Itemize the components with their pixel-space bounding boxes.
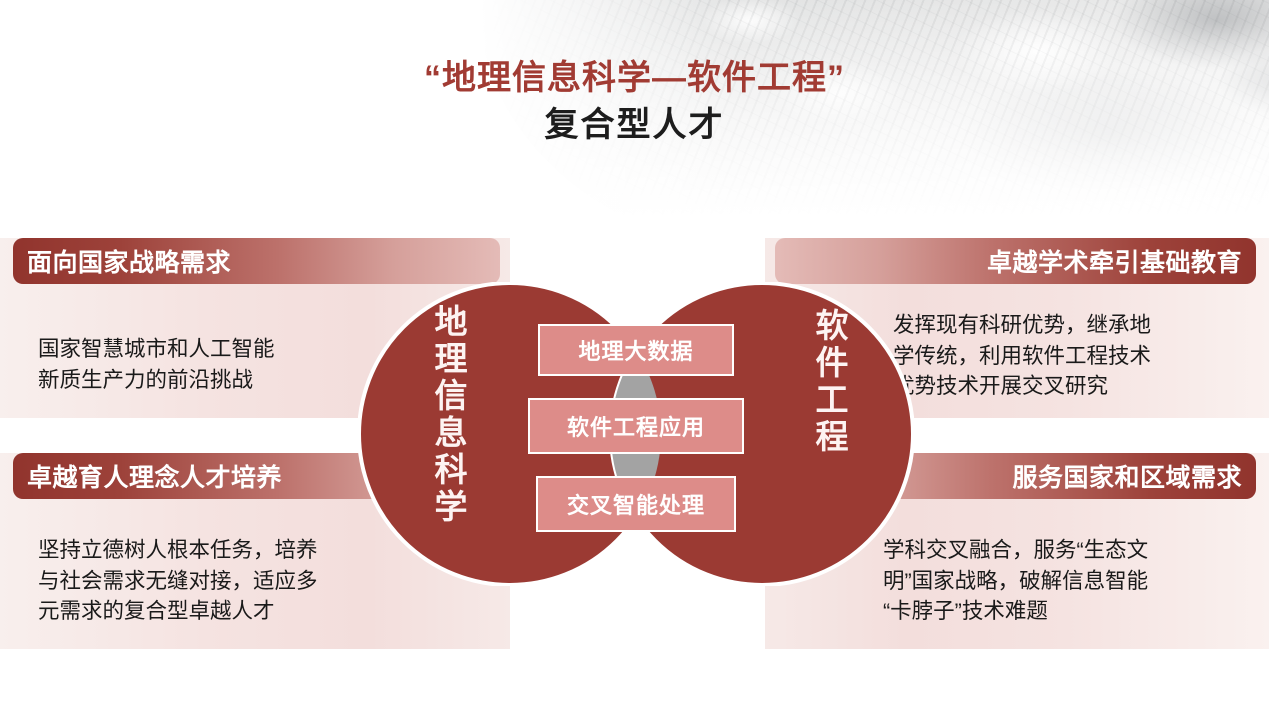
panel-bottom-right-body: 学科交叉融合，服务“生态文 明”国家战略，破解信息智能 “卡脖子”技术难题 <box>883 535 1247 627</box>
venn-left-label: 地理信息科学 <box>432 304 465 526</box>
venn-center-box-0[interactable]: 地理大数据 <box>538 324 734 376</box>
title-block: “地理信息科学—软件工程” 复合型人才 <box>0 58 1269 147</box>
venn-center-box-2[interactable]: 交叉智能处理 <box>536 476 736 532</box>
panel-top-left-heading: 面向国家战略需求 <box>13 238 500 284</box>
venn-center-box-1[interactable]: 软件工程应用 <box>528 398 744 454</box>
venn-right-label: 软件工程 <box>813 308 846 456</box>
panel-top-right-body: 发挥现有科研优势，继承地 学传统，利用软件工程技术 优势技术开展交叉研究 <box>893 310 1243 402</box>
slide-title-sub: 复合型人才 <box>0 104 1269 147</box>
slide-title-main: “地理信息科学—软件工程” <box>0 58 1269 98</box>
panel-top-right-heading: 卓越学术牵引基础教育 <box>775 238 1256 284</box>
venn-diagram: 地理信息科学 软件工程 地理大数据 软件工程应用 交叉智能处理 <box>358 282 914 586</box>
slide-canvas: “地理信息科学—软件工程” 复合型人才 面向国家战略需求 国家智慧城市和人工智能… <box>0 0 1269 710</box>
